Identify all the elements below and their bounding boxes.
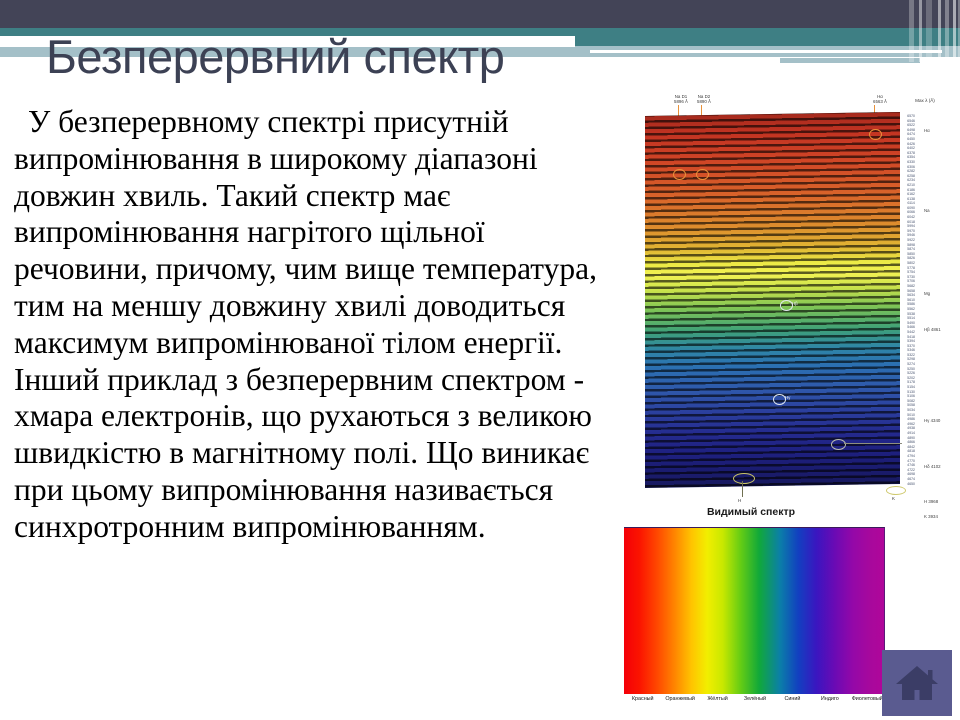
solar-spectrum-band [645,112,900,488]
inline-label-h-beta: Hβ [792,301,798,306]
inline-label-line-k: K [892,496,895,501]
marker-h-alpha [869,129,882,140]
color-label: Жёлтый [699,696,736,702]
fraunhofer-absorption-lines [645,112,900,488]
marker-h-delta [831,439,846,450]
color-label: Индиго [811,696,848,702]
element-marker: K 3934 [924,514,938,519]
element-marker: Hγ 4340 [924,418,940,423]
solar-element-markers: HαNaMgHβ 4861Hγ 4340Hδ 4102H 3968K 3934 [922,114,952,486]
element-marker: Hβ 4861 [924,327,941,332]
element-marker: Mg [924,291,930,296]
visible-spectrum-title: Видимый спектр [608,506,894,518]
element-marker: Hα [924,128,930,133]
home-icon [895,663,939,703]
solar-spectrum-figure: Na D1 5896 Å Na D2 5890 Å Hα 6563 Å Max … [634,88,954,500]
solar-spectrum-callout-labels: Na D1 5896 Å Na D2 5890 Å Hα 6563 Å Max … [634,88,954,114]
element-marker: H 3968 [924,499,938,504]
element-marker: Hδ 4102 [924,464,941,469]
slide-body-text: У безперервному спектрі присутній випром… [14,104,624,546]
banner-rule-white [590,50,942,53]
visible-spectrum-band [624,527,885,694]
callout-label-h-alpha: Hα 6563 Å [865,94,895,104]
banner-band-navy [0,0,960,28]
color-label: Зелёный [736,696,773,702]
inline-label-line-h: H [738,498,741,503]
solar-scale-header: Max λ (Å) [902,98,948,103]
solar-wavelength-scale: 6570654665226498647464506426640263786354… [902,114,920,486]
color-label: Красный [624,696,661,702]
marker-line-k [886,486,906,495]
home-button[interactable] [882,650,952,716]
color-label: Синий [774,696,811,702]
color-label: Фиолетовый [849,696,886,702]
marker-na-d2 [696,169,709,180]
visible-spectrum-figure: Видимый спектр КрасныйОранжевыйЖёлтыйЗел… [608,504,894,720]
marker-na-d1 [673,169,686,180]
visible-spectrum-color-labels: КрасныйОранжевыйЖёлтыйЗелёныйСинийИндиго… [624,696,886,702]
banner-accent-stripes [902,0,960,62]
marker-line-h [733,473,755,484]
callout-label-na-d2: Na D2 5890 Å [689,94,719,104]
callout-leader-line-h [742,481,743,497]
banner-rule-short [780,58,920,63]
element-marker: Na [924,208,930,213]
page-title: Безперервний спектр [46,30,504,84]
color-label: Оранжевый [661,696,698,702]
inline-label-h-gamma: Hγ [785,395,790,400]
